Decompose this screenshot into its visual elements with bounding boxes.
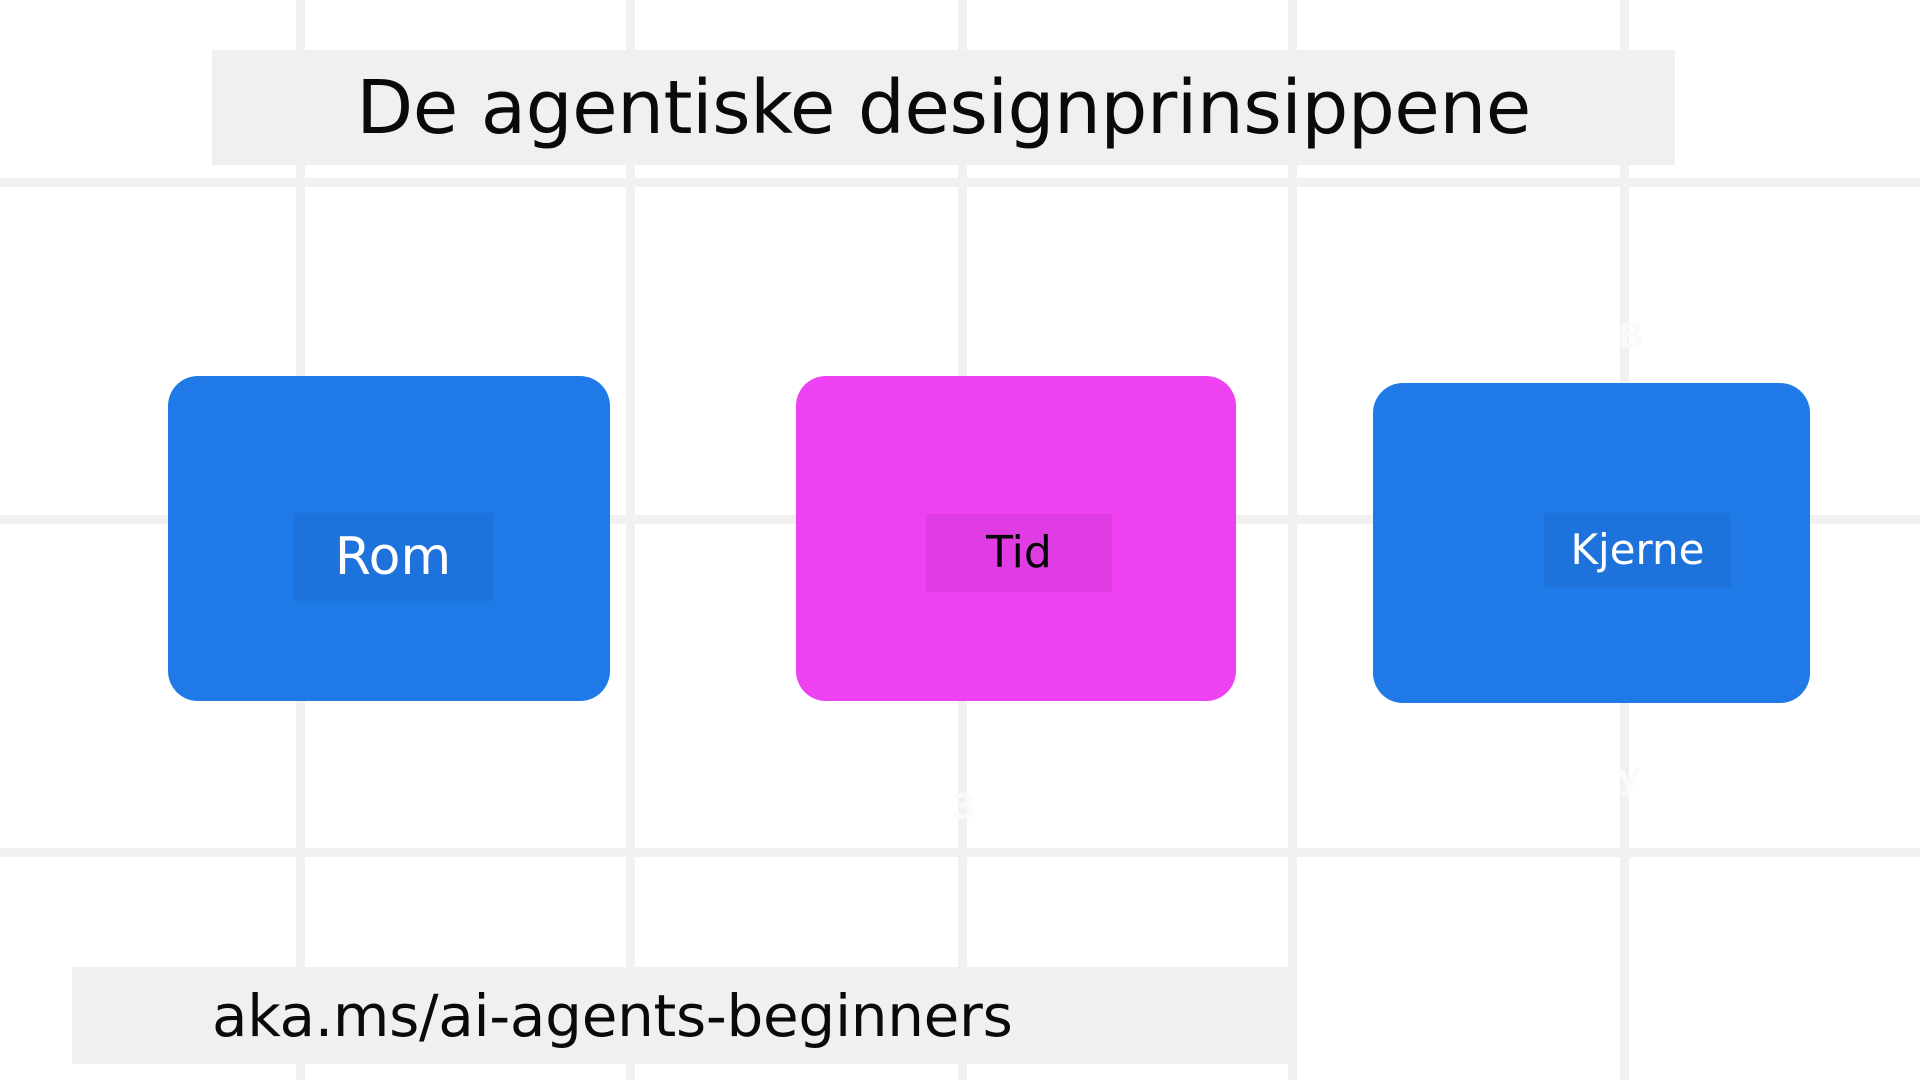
watermark-glyph: y: [1618, 760, 1640, 794]
footer-url[interactable]: aka.ms/ai-agents-beginners: [72, 987, 1013, 1045]
watermark-glyph: B: [1618, 320, 1644, 354]
principle-card-label: Rom: [293, 513, 493, 601]
principle-card-rom[interactable]: Rom: [168, 376, 610, 701]
principle-card-tid[interactable]: Tid: [796, 376, 1236, 701]
principle-card-kjerne[interactable]: Kjerne: [1373, 383, 1810, 703]
principle-card-label: Tid: [926, 514, 1112, 592]
slide-canvas: B y 3 De agentiske designprinsippene Rom…: [0, 0, 1920, 1080]
watermark-glyph: 3: [952, 790, 976, 824]
grid-line-horizontal: [0, 848, 1920, 857]
grid-line-horizontal: [0, 178, 1920, 187]
footer-band: aka.ms/ai-agents-beginners: [72, 967, 1292, 1064]
principle-card-label: Kjerne: [1544, 513, 1730, 587]
page-title: De agentiske designprinsippene: [356, 71, 1531, 145]
title-band: De agentiske designprinsippene: [212, 50, 1675, 165]
